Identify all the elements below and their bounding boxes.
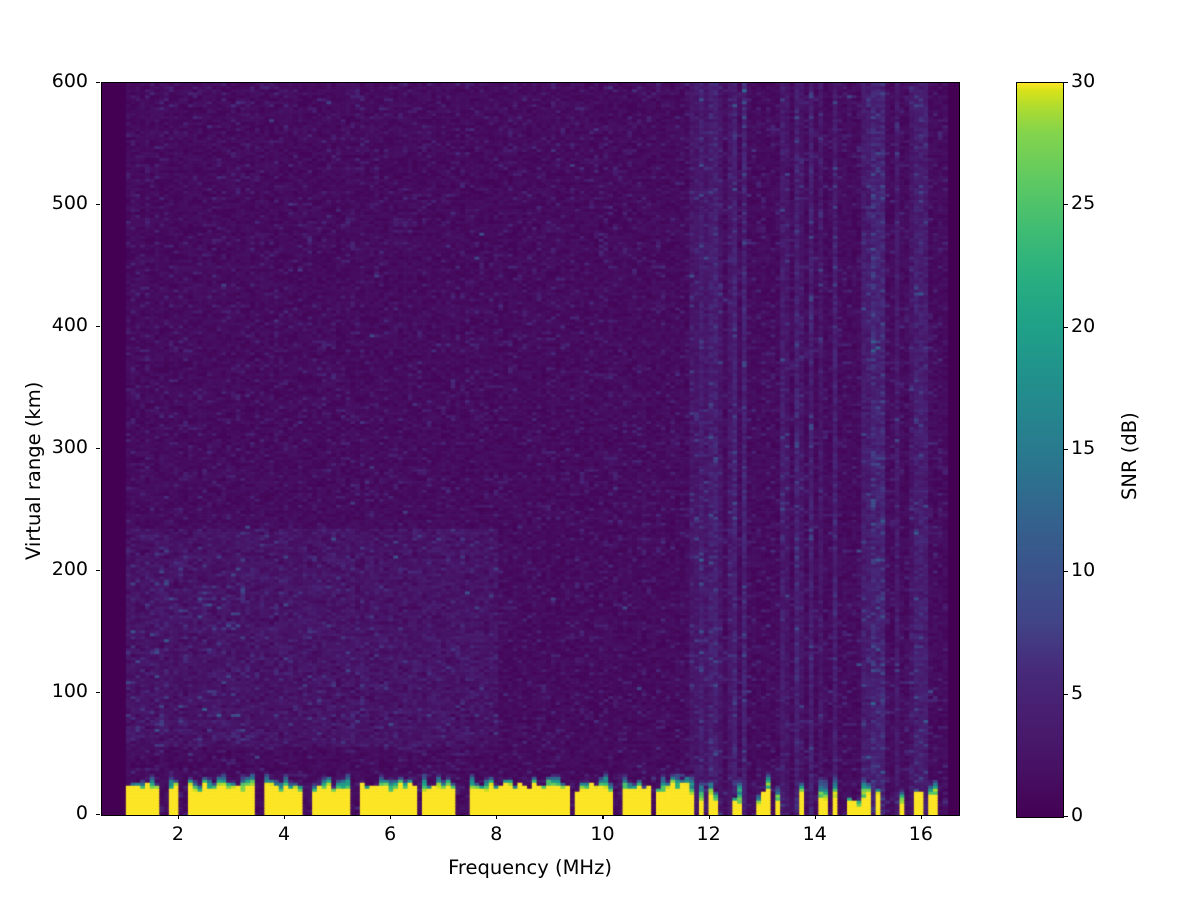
x-axis-title: Frequency (MHz) xyxy=(101,856,959,879)
colorbar-tick-mark xyxy=(1063,204,1068,205)
y-tick-mark xyxy=(96,570,100,571)
x-tick-mark xyxy=(602,815,603,819)
y-tick-mark xyxy=(96,814,100,815)
colorbar-title: SNR (dB) xyxy=(1118,412,1141,500)
colorbar-tick-label: 25 xyxy=(1071,192,1095,214)
colorbar-tick-label: 5 xyxy=(1071,682,1083,704)
colorbar-tick-mark xyxy=(1063,82,1068,83)
x-tick-mark xyxy=(178,815,179,819)
colorbar-tick-mark xyxy=(1063,449,1068,450)
y-tick-mark xyxy=(96,326,100,327)
x-tick-mark xyxy=(284,815,285,819)
y-tick-label: 600 xyxy=(28,70,88,92)
colorbar-tick-mark xyxy=(1063,694,1068,695)
ionogram-heatmap[interactable] xyxy=(101,82,960,816)
x-tick-label: 14 xyxy=(785,823,845,845)
x-tick-label: 10 xyxy=(572,823,632,845)
colorbar-tick-label: 10 xyxy=(1071,559,1095,581)
x-tick-mark xyxy=(496,815,497,819)
colorbar-gradient xyxy=(1016,82,1064,818)
figure-canvas: IRF Kiruna Ionosonde KI167 2026-04-05 11… xyxy=(0,0,1200,900)
y-tick-mark xyxy=(96,692,100,693)
y-tick-mark xyxy=(96,82,100,83)
colorbar-tick-label: 30 xyxy=(1071,70,1095,92)
x-tick-label: 6 xyxy=(360,823,420,845)
x-tick-mark xyxy=(815,815,816,819)
x-tick-label: 2 xyxy=(148,823,208,845)
y-tick-mark xyxy=(96,448,100,449)
x-tick-label: 4 xyxy=(254,823,314,845)
y-tick-label: 0 xyxy=(28,802,88,824)
y-tick-mark xyxy=(96,204,100,205)
x-tick-label: 16 xyxy=(891,823,951,845)
y-tick-label: 400 xyxy=(28,314,88,336)
colorbar-tick-label: 15 xyxy=(1071,437,1095,459)
y-axis-title: Virtual range (km) xyxy=(22,382,45,560)
colorbar-tick-label: 20 xyxy=(1071,315,1095,337)
colorbar-tick-mark xyxy=(1063,327,1068,328)
y-tick-label: 500 xyxy=(28,192,88,214)
x-tick-label: 12 xyxy=(679,823,739,845)
colorbar-tick-mark xyxy=(1063,816,1068,817)
x-tick-mark xyxy=(709,815,710,819)
y-tick-label: 200 xyxy=(28,558,88,580)
x-tick-mark xyxy=(921,815,922,819)
y-tick-label: 100 xyxy=(28,680,88,702)
x-tick-label: 8 xyxy=(466,823,526,845)
ionogram-pixels xyxy=(102,83,959,815)
x-tick-mark xyxy=(390,815,391,819)
colorbar-tick-mark xyxy=(1063,571,1068,572)
colorbar-tick-label: 0 xyxy=(1071,804,1083,826)
